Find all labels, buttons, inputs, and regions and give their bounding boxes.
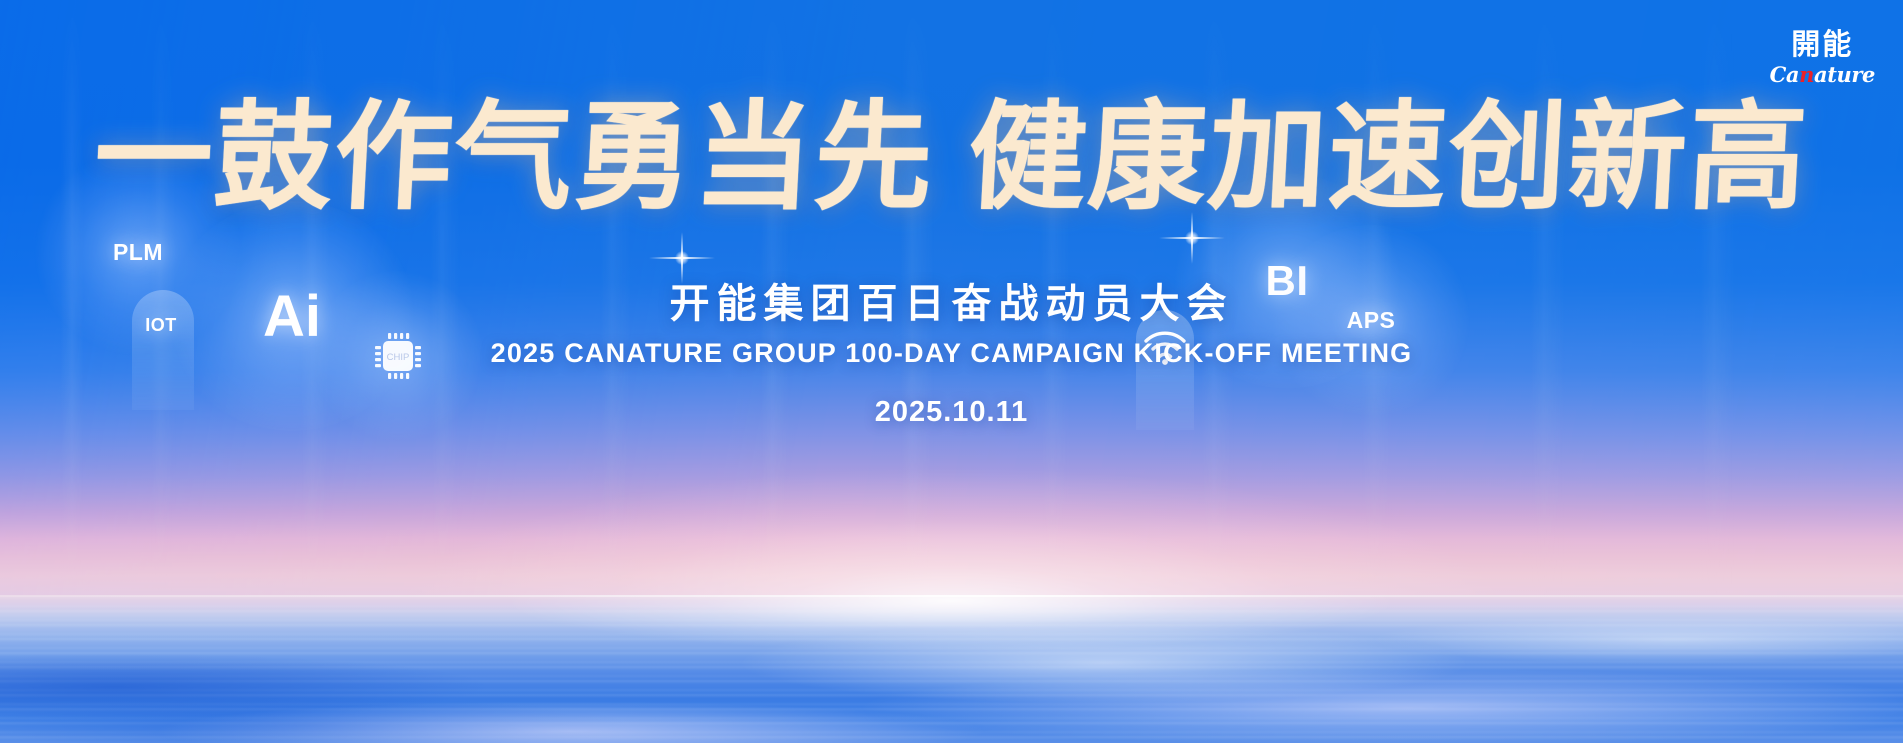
water-surface bbox=[0, 595, 1903, 743]
main-title-line-2: 健康加速创新高 bbox=[965, 87, 1812, 226]
brand-logo: 開能 Canature bbox=[1770, 30, 1875, 85]
logo-suffix: ature bbox=[1814, 62, 1875, 87]
page-title: 一鼓作气勇当先健康加速创新高 bbox=[0, 96, 1903, 219]
event-date: 2025.10.11 bbox=[0, 396, 1903, 429]
brand-logo-chinese: 開能 bbox=[1770, 30, 1875, 59]
subtitle-english: 2025 CANATURE GROUP 100-DAY CAMPAIGN KIC… bbox=[0, 338, 1903, 369]
logo-prefix: Ca bbox=[1770, 62, 1800, 87]
poster-canvas: PLM IOT Ai BI APS bbox=[0, 0, 1903, 743]
tech-badge-plm: PLM bbox=[88, 230, 188, 274]
logo-accent-letter: n bbox=[1799, 62, 1814, 87]
brand-logo-english: Canature bbox=[1770, 64, 1875, 85]
horizon-line bbox=[0, 595, 1903, 597]
tech-badge-plm-label: PLM bbox=[113, 239, 163, 266]
main-title-line-1: 一鼓作气勇当先 bbox=[91, 87, 938, 226]
subtitle-chinese: 开能集团百日奋战动员大会 bbox=[0, 271, 1903, 329]
water-light-reflection bbox=[0, 595, 1903, 743]
